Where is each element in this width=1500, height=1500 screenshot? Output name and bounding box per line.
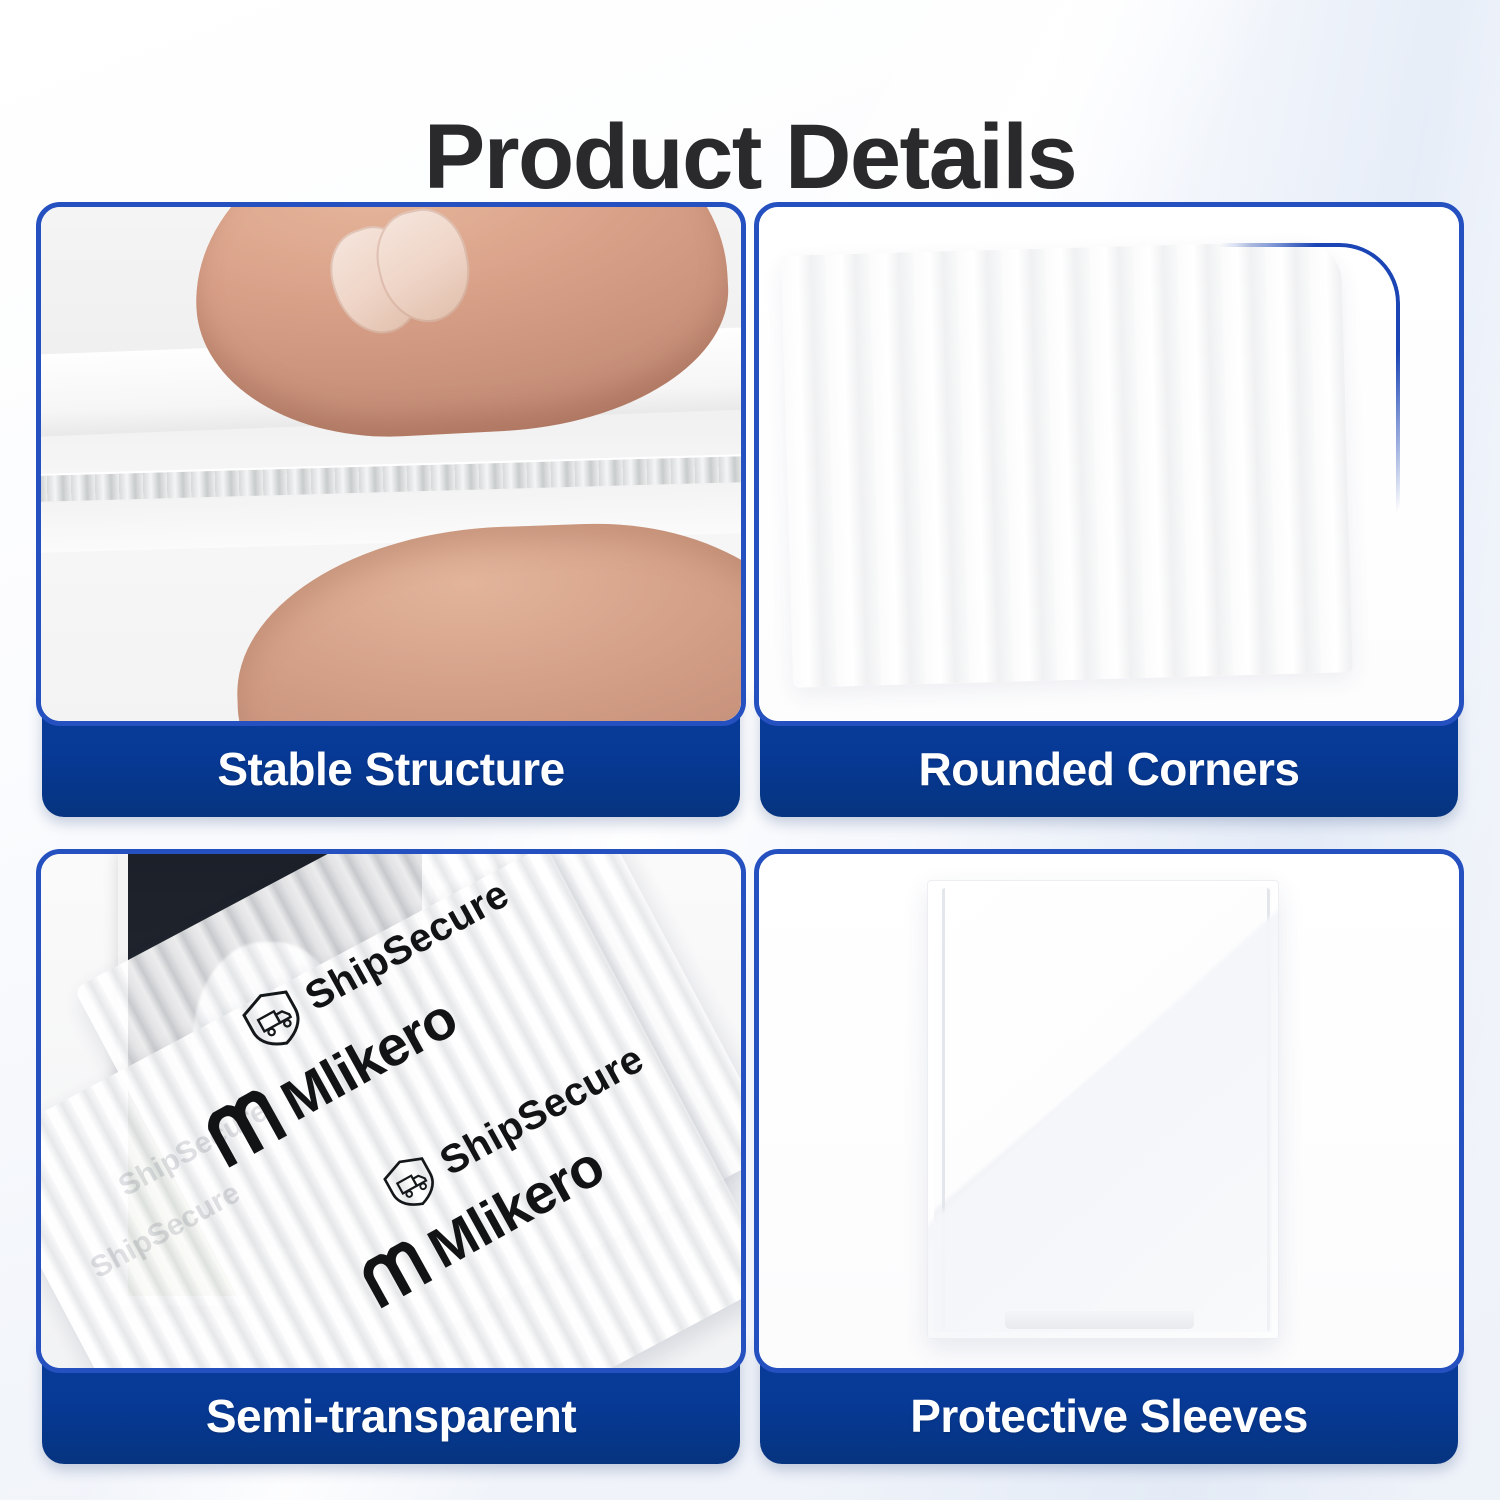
feature-image-semi-transparent: ShipSecure ShipSecure ShipSecure	[36, 849, 746, 1373]
thumb-icon	[232, 516, 746, 726]
feature-card-grid: Stable Structure Rounded Corners	[36, 202, 1464, 1464]
protective-sleeve-photo	[759, 854, 1459, 1368]
glare-highlight	[928, 881, 1278, 1338]
feature-card-protective-sleeves[interactable]: Protective Sleeves	[754, 849, 1464, 1464]
product-details-page: Product Details Stable Structure	[0, 0, 1500, 1500]
feature-label: Protective Sleeves	[910, 1390, 1308, 1442]
feature-label: Rounded Corners	[919, 743, 1300, 795]
sleeve-icon	[927, 880, 1279, 1339]
rounded-corner-photo	[759, 207, 1459, 721]
page-title: Product Details	[0, 102, 1500, 212]
rounded-corner-highlight-icon	[1214, 243, 1400, 514]
sleeve-lip	[1005, 1311, 1194, 1329]
feature-card-semi-transparent[interactable]: ShipSecure ShipSecure ShipSecure	[36, 849, 746, 1464]
feature-image-rounded-corners	[754, 202, 1464, 726]
feature-label: Semi-transparent	[206, 1390, 576, 1442]
feature-label: Stable Structure	[217, 743, 564, 795]
feature-card-stable-structure[interactable]: Stable Structure	[36, 202, 746, 817]
semi-transparent-photo: ShipSecure ShipSecure ShipSecure	[41, 854, 741, 1368]
feature-image-stable-structure	[36, 202, 746, 726]
feature-image-protective-sleeves	[754, 849, 1464, 1373]
feature-card-rounded-corners[interactable]: Rounded Corners	[754, 202, 1464, 817]
corrugated-board-photo	[41, 207, 741, 721]
